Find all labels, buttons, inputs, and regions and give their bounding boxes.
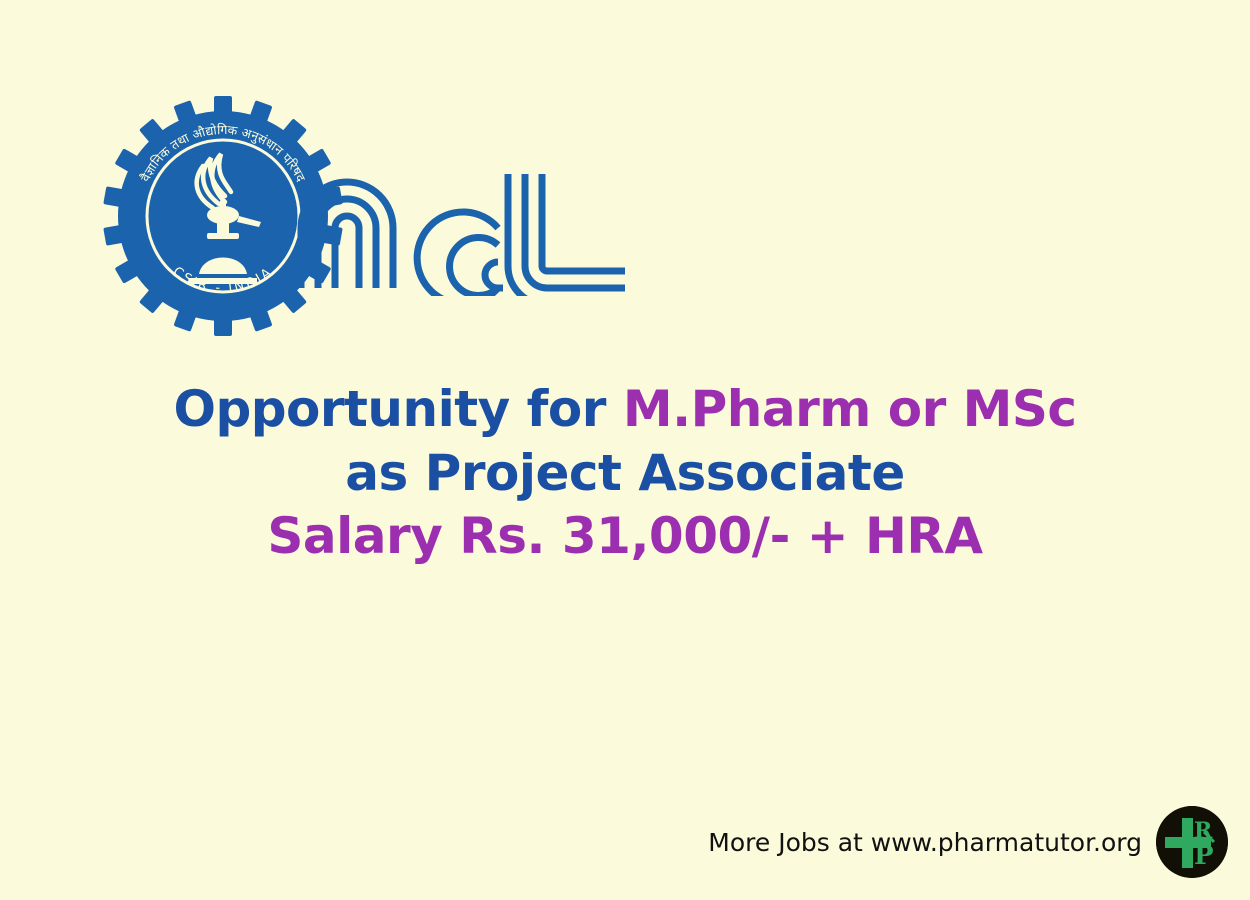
footer-bar: More Jobs at www.pharmatutor.org R P: [708, 806, 1228, 878]
pharmatutor-logo-icon[interactable]: R P: [1156, 806, 1228, 878]
headline-block: Opportunity for M.Pharm or MSc as Projec…: [0, 378, 1250, 569]
headline-line-1-blue: Opportunity for: [173, 380, 622, 438]
headline-line-1: Opportunity for M.Pharm or MSc: [0, 378, 1250, 442]
ncl-wordmark: [293, 166, 633, 296]
csir-ncl-logo: वैज्ञानिक तथा औद्योगिक अनुसंधान परिषद CS…: [103, 96, 533, 336]
pharmatutor-mark: R P: [1156, 806, 1228, 878]
headline-line-3: Salary Rs. 31,000/- + HRA: [0, 505, 1250, 569]
poster-canvas: वैज्ञानिक तथा औद्योगिक अनुसंधान परिषद CS…: [0, 0, 1250, 900]
p-letter: P: [1194, 841, 1214, 871]
headline-line-2: as Project Associate: [0, 442, 1250, 506]
footer-credit-text: More Jobs at www.pharmatutor.org: [708, 828, 1142, 857]
headline-line-1-purple: M.Pharm or MSc: [623, 380, 1077, 438]
emblem-base-bar: [189, 278, 257, 284]
